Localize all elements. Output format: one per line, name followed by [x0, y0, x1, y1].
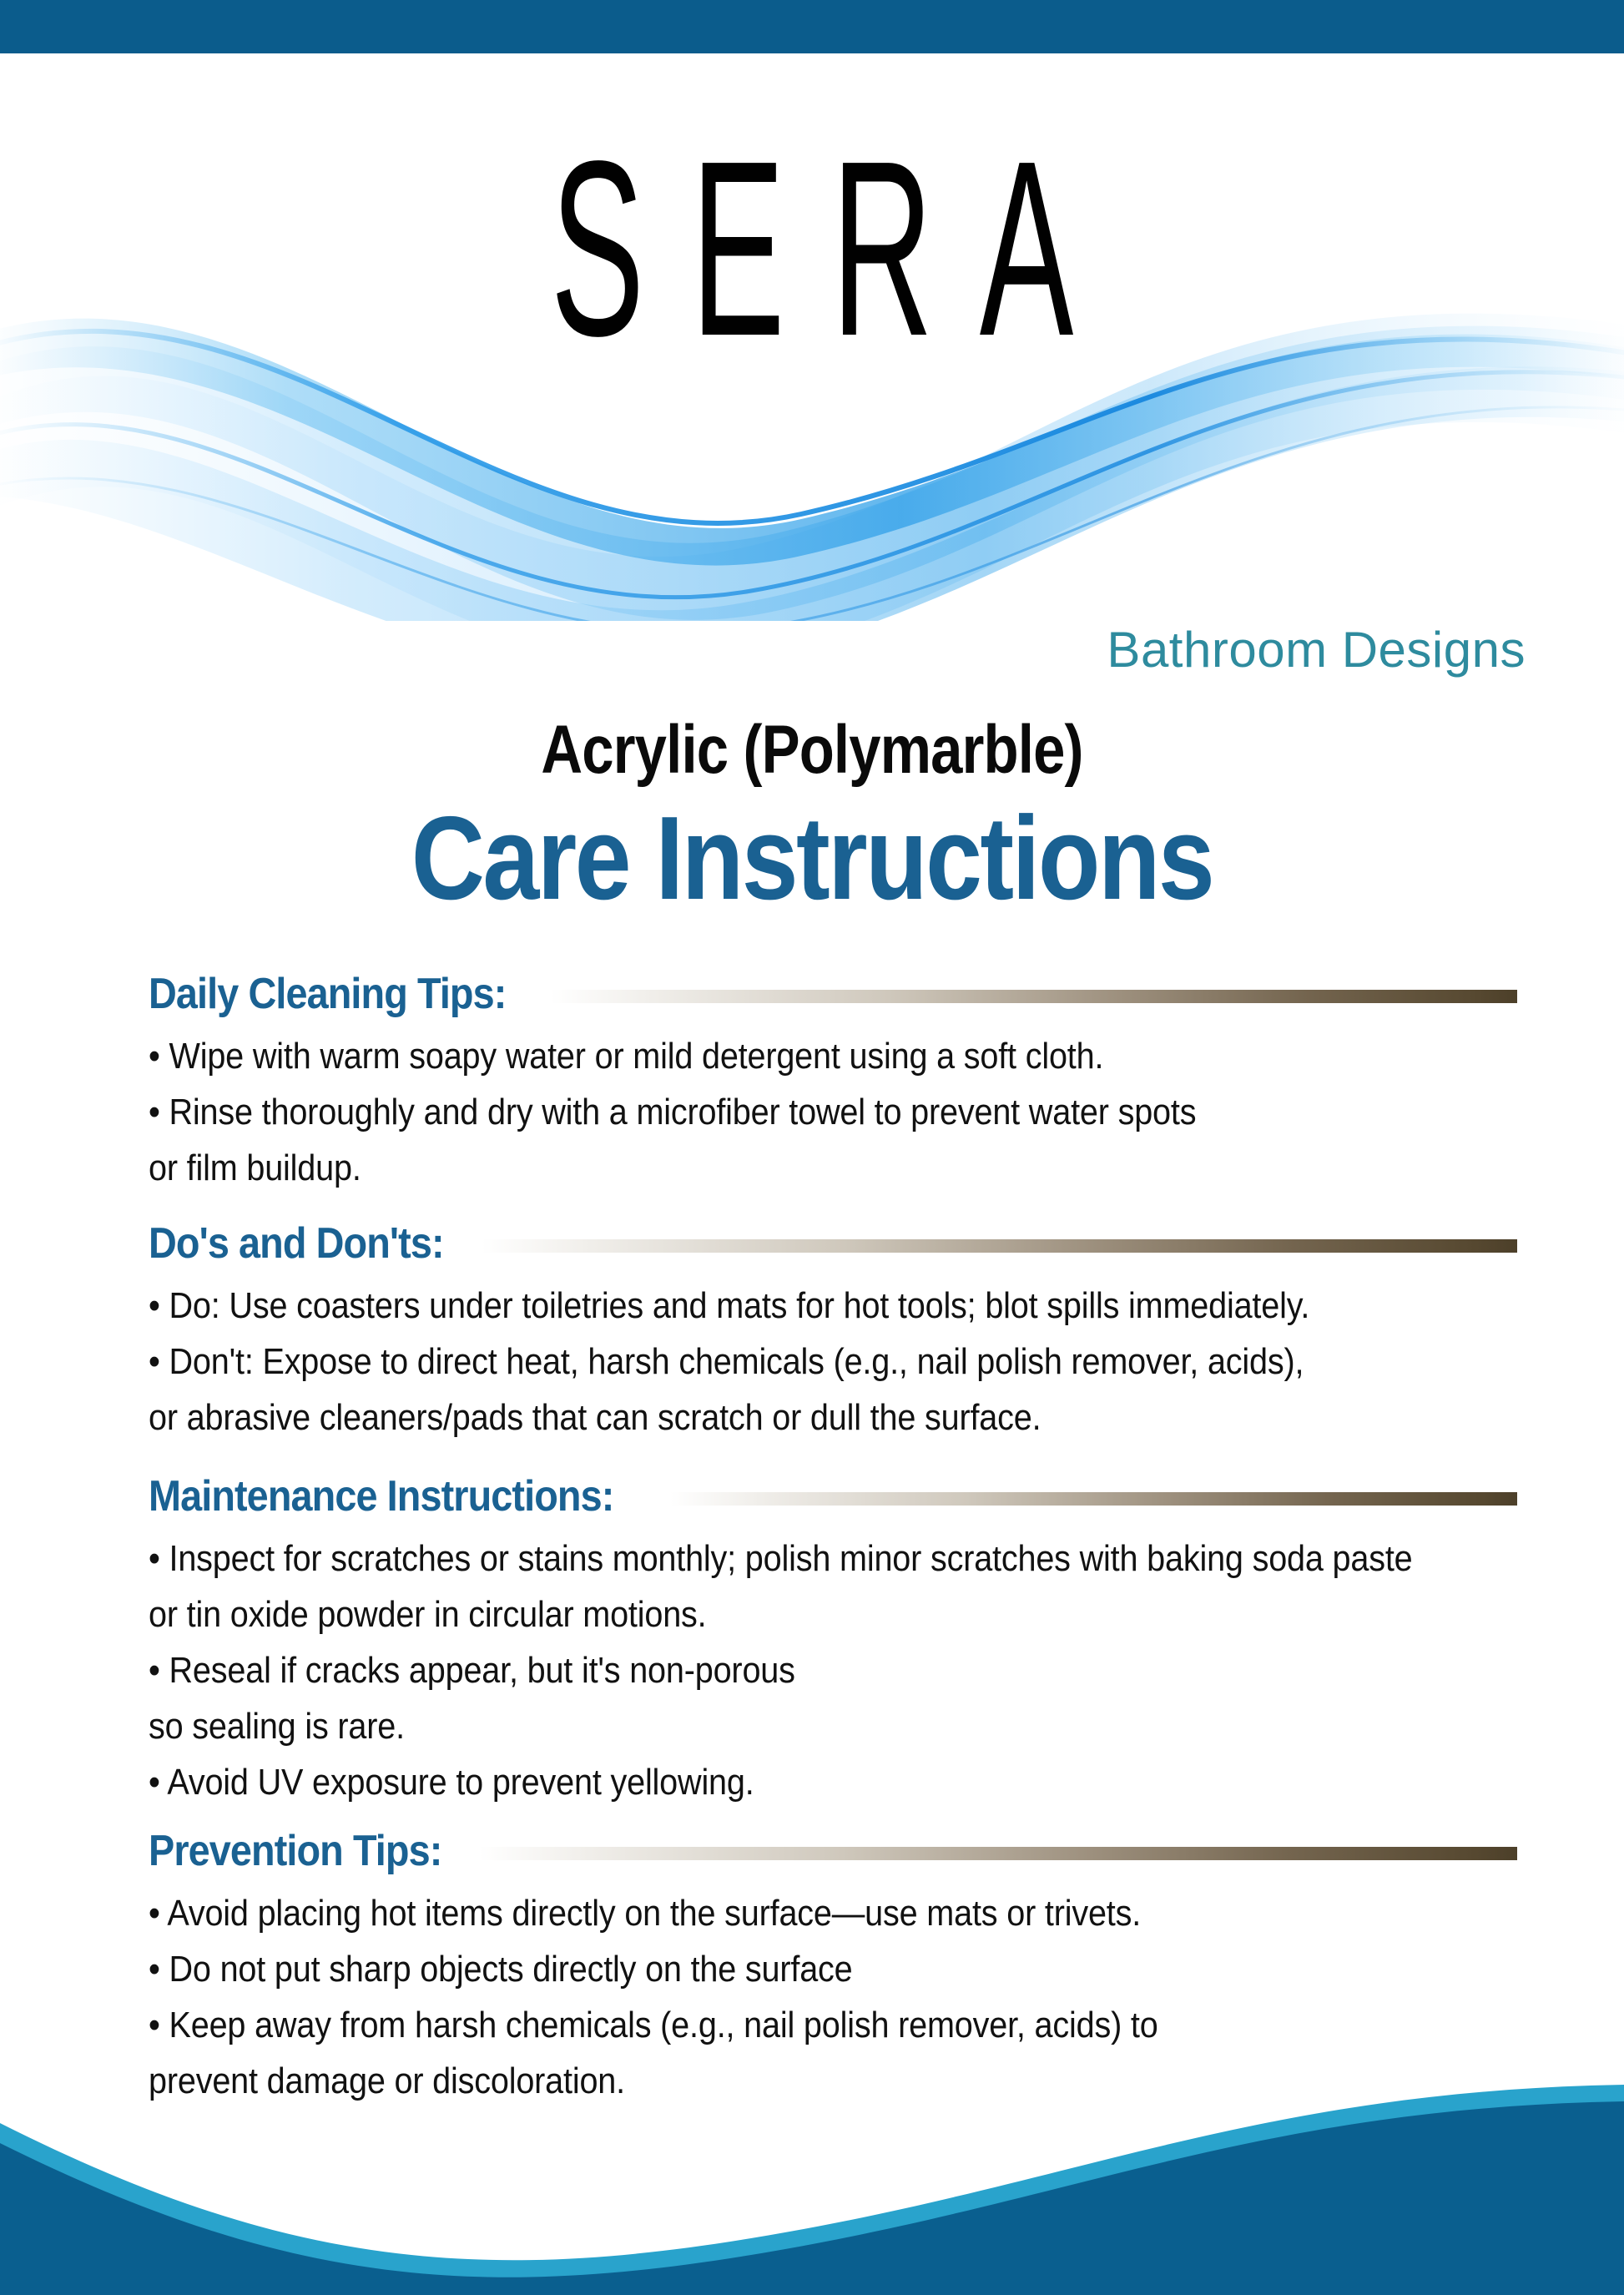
section-divider-rule: [551, 990, 1517, 1003]
bullet-line: or tin oxide powder in circular motions.: [149, 1586, 1380, 1642]
section-bullets: • Wipe with warm soapy water or mild det…: [149, 1028, 1517, 1196]
section-title: Daily Cleaning Tips:: [149, 970, 506, 1018]
section-header: Daily Cleaning Tips:: [149, 968, 1517, 1020]
page-title: Care Instructions: [113, 799, 1511, 918]
section-spacer: [149, 1813, 1517, 1825]
section-title: Maintenance Instructions:: [149, 1472, 613, 1521]
bullet-line: • Avoid placing hot items directly on th…: [149, 1885, 1380, 1941]
bullet-line: • Inspect for scratches or stains monthl…: [149, 1531, 1380, 1586]
bullet-line: or abrasive cleaners/pads that can scrat…: [149, 1390, 1380, 1445]
bullet-line: or film buildup.: [149, 1140, 1380, 1196]
footer-dark-wave: [0, 2101, 1624, 2295]
care-instructions-poster: SERA: [0, 0, 1624, 2295]
section-bullets: • Inspect for scratches or stains monthl…: [149, 1531, 1517, 1810]
footer-wave-graphic: [0, 2061, 1624, 2295]
section-header: Maintenance Instructions:: [149, 1470, 1517, 1522]
section-title: Prevention Tips:: [149, 1827, 441, 1875]
bullet-line: • Don't: Expose to direct heat, harsh ch…: [149, 1334, 1380, 1390]
section-maintenance-instructions: Maintenance Instructions: • Inspect for …: [149, 1470, 1517, 1810]
bullet-line: • Do: Use coasters under toiletries and …: [149, 1278, 1380, 1334]
section-divider-rule: [482, 1239, 1517, 1253]
bullet-line: • Rinse thoroughly and dry with a microf…: [149, 1084, 1380, 1140]
bullet-line: • Avoid UV exposure to prevent yellowing…: [149, 1754, 1380, 1810]
bullet-line: • Reseal if cracks appear, but it's non-…: [149, 1642, 1380, 1698]
section-dos-and-donts: Do's and Don'ts: • Do: Use coasters unde…: [149, 1218, 1517, 1445]
section-divider-rule: [479, 1847, 1517, 1860]
bullet-line: so sealing is rare.: [149, 1698, 1380, 1754]
section-header: Do's and Don'ts:: [149, 1218, 1517, 1269]
section-divider-rule: [670, 1492, 1517, 1506]
section-spacer: [149, 1199, 1517, 1218]
instruction-sections: Daily Cleaning Tips: • Wipe with warm so…: [149, 968, 1517, 2112]
brand-tagline: Bathroom Designs: [0, 621, 1624, 678]
section-title: Do's and Don'ts:: [149, 1219, 444, 1268]
bullet-line: • Do not put sharp objects directly on t…: [149, 1941, 1380, 1997]
bullet-line: • Keep away from harsh chemicals (e.g., …: [149, 1997, 1380, 2053]
section-daily-cleaning-tips: Daily Cleaning Tips: • Wipe with warm so…: [149, 968, 1517, 1196]
bullet-line: • Wipe with warm soapy water or mild det…: [149, 1028, 1380, 1084]
product-subtitle: Acrylic (Polymarble): [130, 716, 1495, 784]
section-bullets: • Do: Use coasters under toiletries and …: [149, 1278, 1517, 1445]
top-accent-bar: [0, 0, 1624, 53]
section-spacer: [149, 1449, 1517, 1470]
section-header: Prevention Tips:: [149, 1825, 1517, 1877]
sera-logo-wordmark: SERA: [309, 124, 1316, 373]
brand-header: SERA: [0, 53, 1624, 688]
